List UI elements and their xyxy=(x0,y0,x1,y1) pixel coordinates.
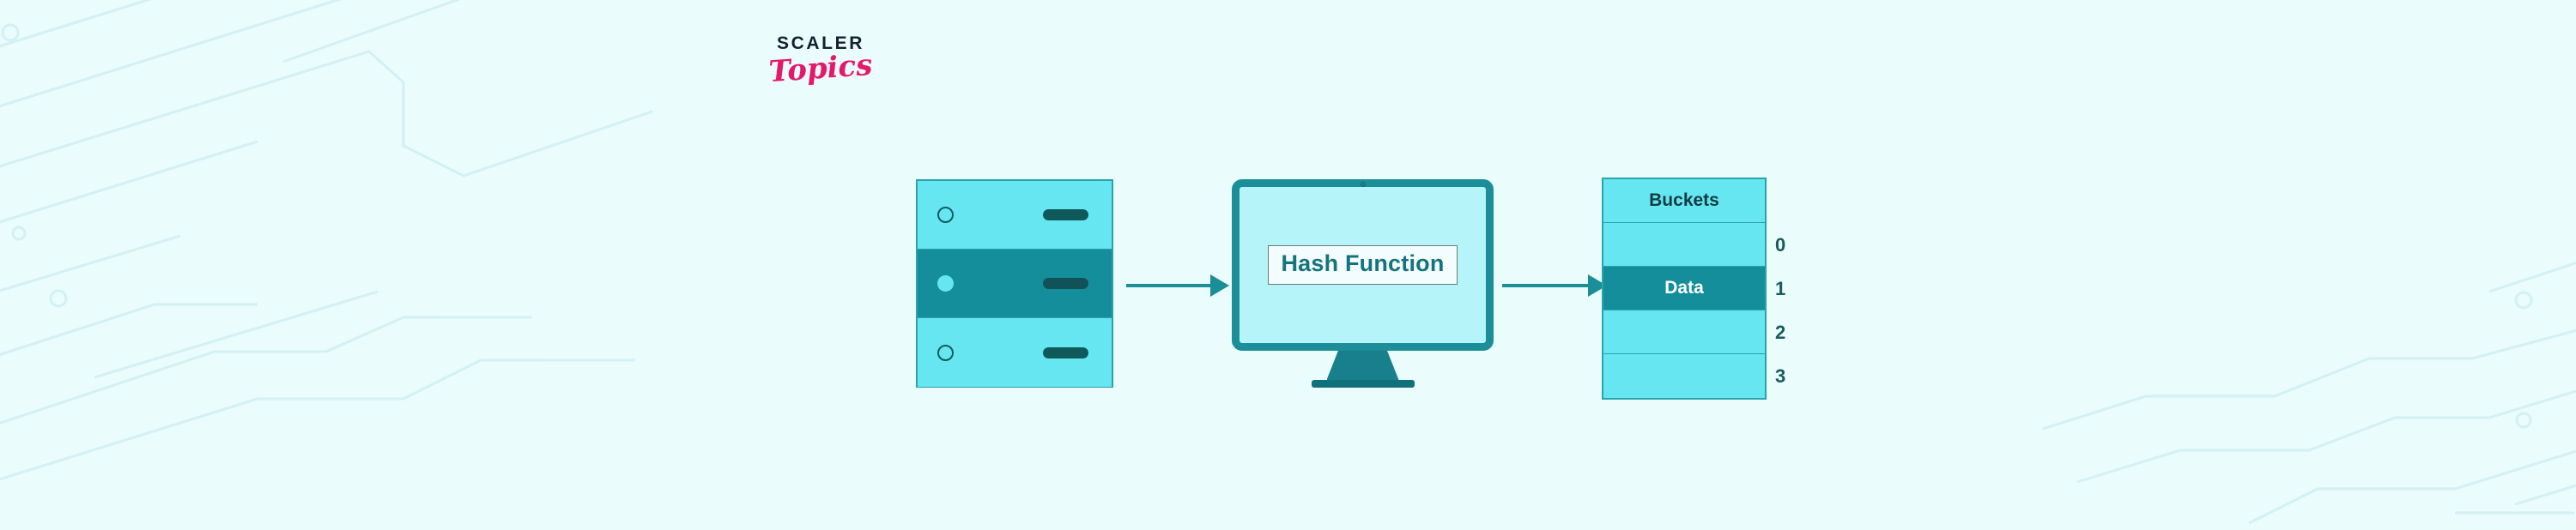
monitor-stand-neck xyxy=(1327,351,1399,380)
hollow-circle-icon xyxy=(937,345,954,361)
bucket-index-column: 0 1 2 3 xyxy=(1772,223,1785,398)
bucket-cell-0 xyxy=(1603,223,1765,267)
hash-function-monitor: Hash Function xyxy=(1232,179,1494,389)
monitor-stand-base xyxy=(1312,380,1415,388)
record-bar-icon xyxy=(1043,278,1088,289)
bucket-cell-3 xyxy=(1603,354,1765,398)
logo-topics-text: Topics xyxy=(751,49,890,87)
input-record-stack xyxy=(916,179,1113,388)
hash-function-label: Hash Function xyxy=(1281,250,1444,276)
bucket-cell-2 xyxy=(1603,310,1765,354)
buckets-header: Buckets xyxy=(1603,179,1765,223)
bucket-index-1: 1 xyxy=(1772,267,1785,310)
bucket-index-3: 3 xyxy=(1772,354,1785,398)
arrow-shaft xyxy=(1502,284,1588,287)
record-row xyxy=(918,181,1112,250)
arrow-head xyxy=(1210,274,1229,297)
filled-circle-icon xyxy=(937,275,954,292)
record-row xyxy=(918,318,1112,387)
scaler-topics-logo: SCALER Topics xyxy=(752,34,889,83)
camera-dot-icon xyxy=(1361,182,1366,187)
monitor-bezel: Hash Function xyxy=(1232,179,1494,351)
arrow-input-to-hash-icon xyxy=(1126,274,1229,297)
buckets-table: Buckets Data xyxy=(1602,178,1767,400)
arrow-hash-to-buckets-icon xyxy=(1502,274,1607,297)
bucket-cell-1: Data xyxy=(1603,267,1765,310)
record-bar-icon xyxy=(1043,347,1088,358)
buckets-table-wrap: Buckets Data 0 1 2 3 xyxy=(1602,178,1816,402)
hollow-circle-icon xyxy=(937,207,954,223)
bucket-index-2: 2 xyxy=(1772,310,1785,354)
bucket-index-0: 0 xyxy=(1772,223,1785,267)
hash-function-box: Hash Function xyxy=(1268,245,1457,284)
diagram-stage: Hash Function Buckets Data 0 1 2 3 xyxy=(0,0,2576,530)
arrow-shaft xyxy=(1126,284,1210,287)
record-bar-icon xyxy=(1043,209,1088,220)
record-row-active xyxy=(918,250,1112,318)
